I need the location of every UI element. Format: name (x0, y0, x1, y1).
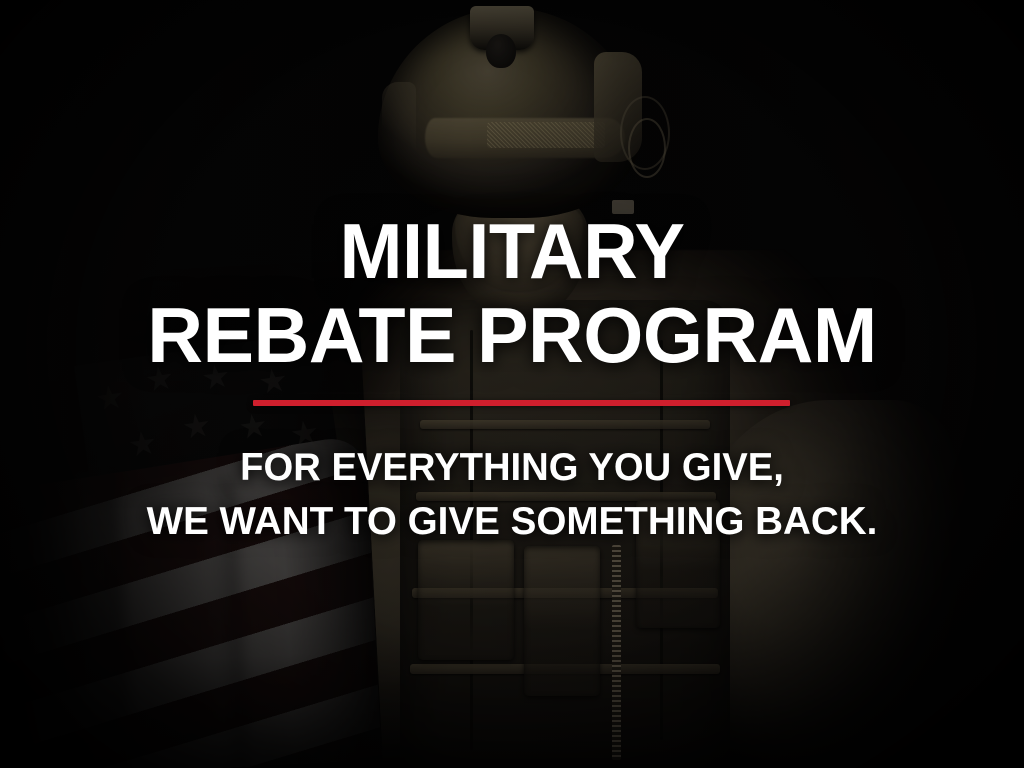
nvg-shroud (486, 34, 516, 68)
helmet-cable (628, 118, 666, 178)
background-photo-soldier (0, 0, 1024, 768)
american-flag (0, 260, 383, 768)
soldier-right-arm (690, 400, 980, 768)
flag-shading (0, 260, 383, 768)
vest-zipper (612, 545, 621, 760)
ammo-pouch (418, 540, 514, 660)
helmet-id-tab (612, 200, 634, 214)
helmet-left-rail (382, 82, 416, 174)
radio-pouch (636, 500, 720, 628)
military-rebate-poster: MILITARY REBATE PROGRAM FOR EVERYTHING Y… (0, 0, 1024, 768)
vest-strap (420, 420, 710, 429)
helmet-velcro-patch (487, 122, 605, 148)
utility-pouch (524, 546, 600, 696)
